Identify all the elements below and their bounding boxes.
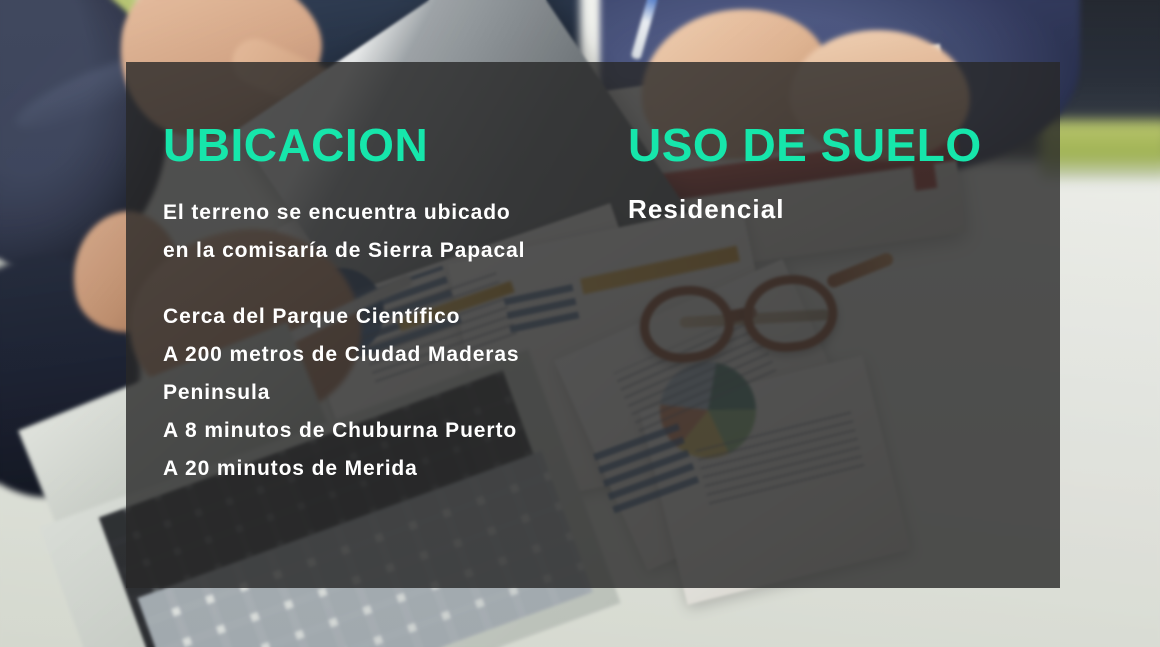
list-item: A 20 minutos de Merida <box>163 450 633 488</box>
left-content-column: UBICACION El terreno se encuentra ubicad… <box>163 122 633 488</box>
list-item: Cerca del Parque Científico <box>163 298 633 336</box>
ubicacion-bullet-list: Cerca del Parque Científico A 200 metros… <box>163 298 633 488</box>
right-content-column: USO DE SUELO Residencial <box>628 122 1048 225</box>
presentation-slide: UBICACION El terreno se encuentra ubicad… <box>0 0 1160 647</box>
ubicacion-paragraph-line: en la comisaría de Sierra Papacal <box>163 232 633 270</box>
ubicacion-heading: UBICACION <box>163 122 633 168</box>
list-item: A 8 minutos de Chuburna Puerto <box>163 412 633 450</box>
ubicacion-paragraph: El terreno se encuentra ubicado en la co… <box>163 194 633 270</box>
ubicacion-paragraph-line: El terreno se encuentra ubicado <box>163 194 633 232</box>
spacer <box>163 270 633 298</box>
dark-overlay-panel: UBICACION El terreno se encuentra ubicad… <box>126 62 1060 588</box>
uso-de-suelo-heading: USO DE SUELO <box>628 122 1048 168</box>
list-item: Peninsula <box>163 374 633 412</box>
uso-de-suelo-value: Residencial <box>628 194 1048 225</box>
list-item: A 200 metros de Ciudad Maderas <box>163 336 633 374</box>
uso-de-suelo-value-wrap: Residencial <box>628 194 1048 225</box>
